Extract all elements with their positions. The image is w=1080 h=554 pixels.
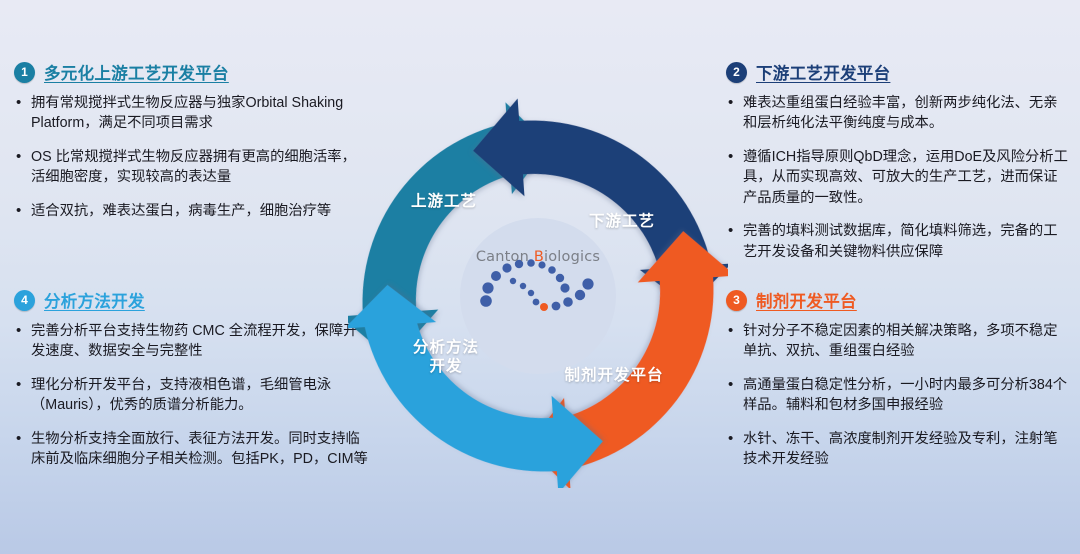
bullet-list-downstream: 难表达重组蛋白经验丰富，创新两步纯化法、无亲和层析纯化法平衡纯度与成本。 遵循I… bbox=[726, 93, 1070, 262]
list-item: 难表达重组蛋白经验丰富，创新两步纯化法、无亲和层析纯化法平衡纯度与成本。 bbox=[726, 93, 1070, 134]
panel-analytical-methods: 4 分析方法开发 完善分析平台支持生物药 CMC 全流程开发，保障开发速度、数据… bbox=[14, 288, 369, 483]
list-item: 遵循ICH指导原则QbD理念，运用DoE及风险分析工具，从而实现高效、可放大的生… bbox=[726, 147, 1070, 208]
list-item: 水针、冻干、高浓度制剂开发经验及专利，注射笔技术开发经验 bbox=[726, 429, 1070, 470]
panel-upstream-process: 1 多元化上游工艺开发平台 拥有常规搅拌式生物反应器与独家Orbital Sha… bbox=[14, 60, 369, 234]
panel-downstream-process: 2 下游工艺开发平台 难表达重组蛋白经验丰富，创新两步纯化法、无亲和层析纯化法平… bbox=[726, 60, 1070, 275]
badge-number-1: 1 bbox=[14, 62, 35, 83]
panel-title-downstream: 下游工艺开发平台 bbox=[756, 60, 890, 84]
list-item: 针对分子不稳定因素的相关解决策略，多项不稳定单抗、双抗、重组蛋白经验 bbox=[726, 321, 1070, 362]
badge-number-2: 2 bbox=[726, 62, 747, 83]
cycle-diagram: 上游工艺 下游工艺 制剂开发平台 分析方法 开发 Canton Biologic… bbox=[348, 88, 728, 488]
panel-heading: 4 分析方法开发 bbox=[14, 288, 369, 312]
list-item: 适合双抗，难表达蛋白，病毒生产，细胞治疗等 bbox=[14, 201, 369, 221]
brand-word-canton: Canton bbox=[476, 249, 534, 265]
list-item: 完善分析平台支持生物药 CMC 全流程开发，保障开发速度、数据安全与完整性 bbox=[14, 321, 369, 362]
badge-number-3: 3 bbox=[726, 290, 747, 311]
list-item: 拥有常规搅拌式生物反应器与独家Orbital Shaking Platform，… bbox=[14, 93, 369, 134]
badge-number-4: 4 bbox=[14, 290, 35, 311]
panel-formulation-development: 3 制剂开发平台 针对分子不稳定因素的相关解决策略，多项不稳定单抗、双抗、重组蛋… bbox=[726, 288, 1070, 483]
bullet-list-upstream: 拥有常规搅拌式生物反应器与独家Orbital Shaking Platform，… bbox=[14, 93, 369, 221]
bullet-list-formulation: 针对分子不稳定因素的相关解决策略，多项不稳定单抗、双抗、重组蛋白经验 高通量蛋白… bbox=[726, 321, 1070, 470]
slide-canvas: 1 多元化上游工艺开发平台 拥有常规搅拌式生物反应器与独家Orbital Sha… bbox=[0, 0, 1080, 554]
panel-heading: 3 制剂开发平台 bbox=[726, 288, 1070, 312]
panel-heading: 1 多元化上游工艺开发平台 bbox=[14, 60, 369, 84]
panel-title-formulation: 制剂开发平台 bbox=[756, 288, 857, 312]
brand-word-b: B bbox=[534, 249, 544, 265]
panel-heading: 2 下游工艺开发平台 bbox=[726, 60, 1070, 84]
brand-word-iologics: iologics bbox=[544, 249, 600, 265]
brand-logo: Canton Biologics bbox=[460, 248, 616, 340]
list-item: 完善的填料测试数据库，简化填料筛选，完备的工艺开发设备和关键物料供应保障 bbox=[726, 221, 1070, 262]
brand-wordmark: Canton Biologics bbox=[460, 249, 616, 265]
list-item: 高通量蛋白稳定性分析，一小时内最多可分析384个样品。辅料和包材多国申报经验 bbox=[726, 375, 1070, 416]
list-item: OS 比常规搅拌式生物反应器拥有更高的细胞活率，活细胞密度，实现较高的表达量 bbox=[14, 147, 369, 188]
list-item: 生物分析支持全面放行、表征方法开发。同时支持临床前及临床细胞分子相关检测。包括P… bbox=[14, 429, 369, 470]
bullet-list-analytics: 完善分析平台支持生物药 CMC 全流程开发，保障开发速度、数据安全与完整性 理化… bbox=[14, 321, 369, 470]
panel-title-upstream: 多元化上游工艺开发平台 bbox=[44, 60, 229, 84]
list-item: 理化分析开发平台，支持液相色谱，毛细管电泳（Mauris），优秀的质谱分析能力。 bbox=[14, 375, 369, 416]
panel-title-analytics: 分析方法开发 bbox=[44, 288, 145, 312]
